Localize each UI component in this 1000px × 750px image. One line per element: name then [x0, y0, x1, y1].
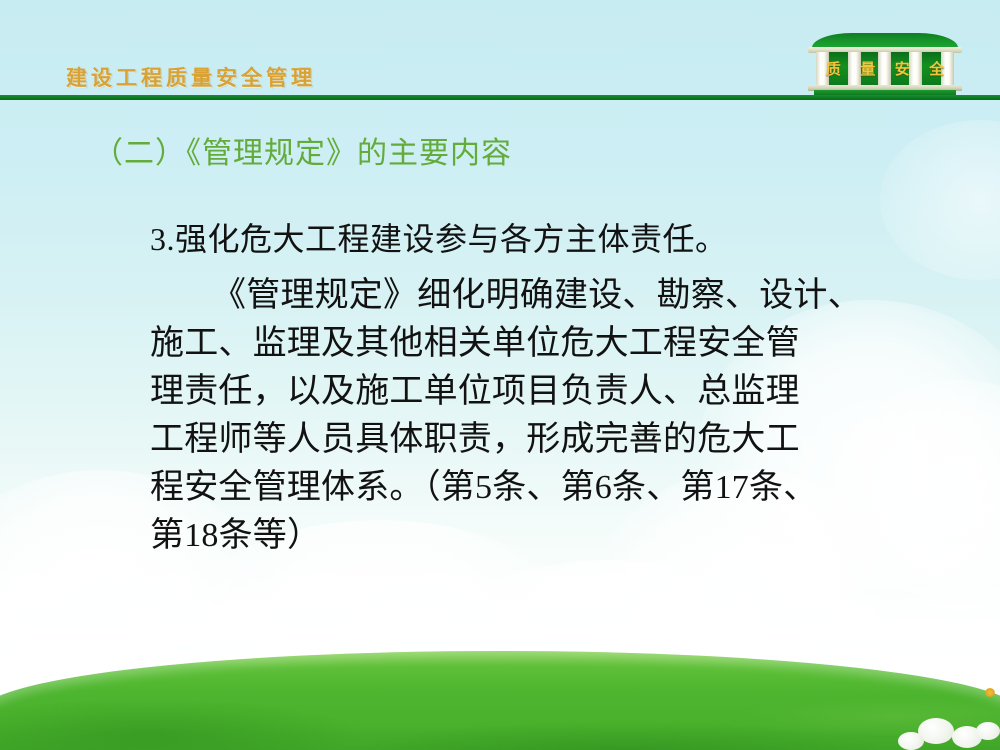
logo-char-3: 安 — [891, 58, 913, 79]
paragraph-line: 《管理规定》细化明确建设、勘察、设计、 — [150, 272, 950, 320]
paragraph-line: 理责任，以及施工单位项目负责人、总监理 — [150, 368, 950, 416]
paragraph-line: 第18条等） — [150, 512, 950, 560]
logo-char-2: 量 — [857, 58, 879, 79]
logo-text: 质 量 安 全 — [816, 58, 954, 79]
logo-char-1: 质 — [822, 58, 844, 79]
logo-char-4: 全 — [926, 58, 948, 79]
section-title: （二）《管理规定》的主要内容 — [93, 128, 512, 172]
body-paragraph: 《管理规定》细化明确建设、勘察、设计、 施工、监理及其他相关单位危大工程安全管 … — [150, 272, 950, 560]
grass-meadow-decoration — [0, 651, 1000, 750]
bullet-heading: 3.强化危大工程建设参与各方主体责任。 — [150, 214, 728, 260]
cloud-decoration — [880, 120, 1000, 280]
slide-header: 建设工程质量安全管理 质 量 安 全 — [0, 0, 1000, 98]
paragraph-line: 施工、监理及其他相关单位危大工程安全管 — [150, 320, 950, 368]
header-title: 建设工程质量安全管理 — [66, 62, 316, 92]
header-divider — [0, 95, 1000, 100]
paragraph-line: 程安全管理体系。（第5条、第6条、第17条、 — [150, 464, 950, 512]
quality-safety-temple-logo: 质 量 安 全 — [806, 33, 964, 97]
presentation-slide: 建设工程质量安全管理 质 量 安 全 （二）《管理规定》的主要内容 3.强化危大… — [0, 0, 1000, 750]
paragraph-line: 工程师等人员具体职责，形成完善的危大工 — [150, 416, 950, 464]
